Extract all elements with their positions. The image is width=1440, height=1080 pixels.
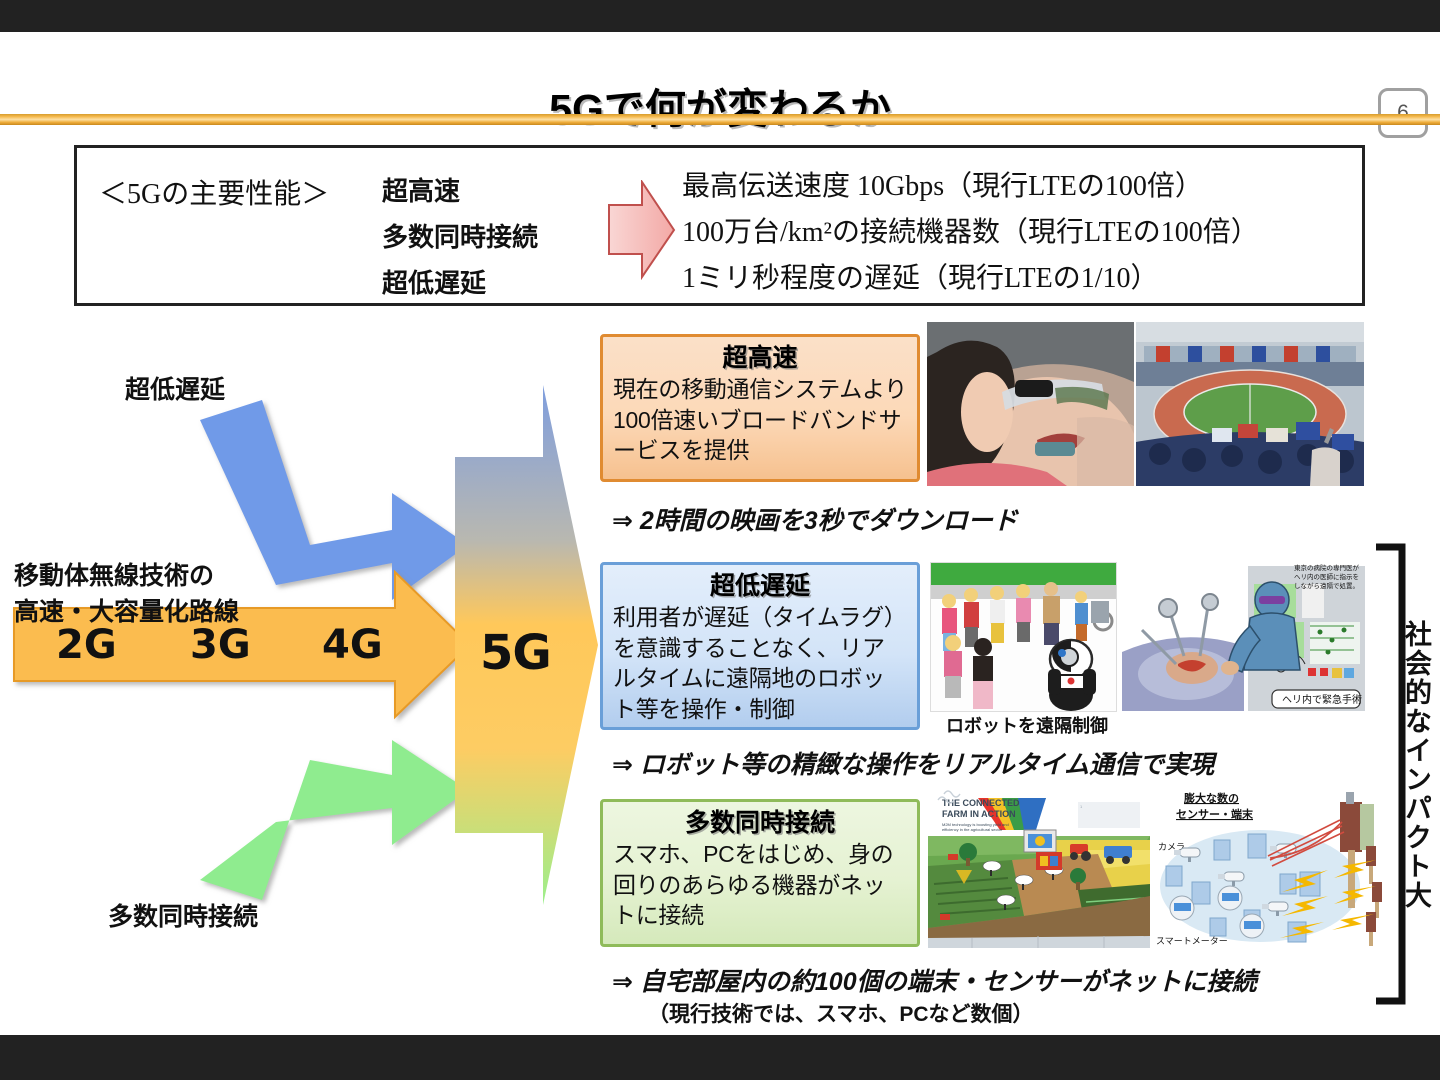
diagram-massive-sensors: 膨大な数の センサー・端末 カメラ スマートメーター: [1152, 786, 1384, 952]
card-body: 利用者が遅延（タイムラグ）を意識することなく、リアルタイムに遠隔地のロボット等を…: [613, 602, 907, 724]
svg-text:スマートメーター: スマートメーター: [1156, 936, 1228, 946]
key-performance-keys: 超高速 多数同時接続 超低遅延: [382, 168, 538, 306]
caption-remote-robot-control: ロボットを遠隔制御: [946, 712, 1108, 738]
result-ultra-high-speed: ⇒ 2時間の映画を3秒でダウンロード: [612, 501, 1018, 537]
svg-text:FARM IN ACTION: FARM IN ACTION: [942, 809, 1016, 819]
generation-2g: 2G: [56, 622, 117, 668]
illustration-robot-in-crowd: [930, 562, 1117, 712]
page-title: 5Gで何が変わるか: [0, 75, 1440, 135]
page-number-badge: 6: [1378, 88, 1428, 138]
card-heading: 超高速: [613, 343, 907, 374]
letterbox-top: [0, 0, 1440, 32]
card-body: スマホ、PCをはじめ、身の回りのあらゆる機器がネットに接続: [613, 839, 907, 931]
illustration-remote-surgery: 東京の病院の専門医が ヘリ内の医師に指示を しながら遠隔で処置。 ヘリ内で緊急手…: [1122, 556, 1365, 711]
five-g-hub-label: 5G: [480, 625, 551, 681]
card-body: 現在の移動通信システムより100倍速いブロードバンドサービスを提供: [613, 374, 907, 466]
svg-text:膨大な数の: 膨大な数の: [1183, 791, 1239, 805]
value-item-1: 100万台/km²の接続機器数（現行LTEの100倍）: [682, 210, 1259, 256]
illustration-connected-farm: THE CONNECTED FARM IN ACTION M2M technol…: [928, 790, 1150, 950]
green-many-connections-arrow: [200, 740, 468, 900]
blue-low-latency-arrow: [200, 400, 468, 600]
value-item-0: 最高伝送速度 10Gbps（現行LTEの100倍）: [682, 164, 1259, 210]
svg-text:efficiency in the agricultural: efficiency in the agricultural sector: [942, 827, 1003, 832]
card-heading: 多数同時接続: [613, 808, 907, 839]
card-ultra-high-speed: 超高速 現在の移動通信システムより100倍速いブロードバンドサービスを提供: [600, 334, 920, 482]
svg-text:東京の病院の専門医が: 東京の病院の専門医が: [1294, 563, 1360, 572]
svg-text:THE CONNECTED: THE CONNECTED: [942, 798, 1020, 808]
right-arrow-pink-icon: [604, 180, 676, 280]
card-massive-connections: 多数同時接続 スマホ、PCをはじめ、身の回りのあらゆる機器がネットに接続: [600, 799, 920, 947]
result-massive-connections: ⇒ 自宅部屋内の約100個の端末・センサーがネットに接続: [612, 962, 1257, 998]
label-many-connections: 多数同時接続: [108, 897, 258, 933]
value-item-2: 1ミリ秒程度の遅延（現行LTEの1/10）: [682, 256, 1259, 302]
social-impact-label: 社会的なインパクト大: [1402, 620, 1436, 910]
svg-text:センサー・端末: センサー・端末: [1176, 807, 1254, 821]
key-item-0: 超高速: [382, 168, 538, 214]
photo-smart-glasses: [927, 322, 1134, 486]
slide: 5Gで何が変わるか 6 ＜5Gの主要性能＞ 超高速 多数同時接続 超低遅延 最高…: [0, 0, 1440, 1080]
label-route-line1: 移動体無線技術の: [14, 558, 239, 594]
label-low-latency: 超低遅延: [125, 370, 225, 406]
card-ultra-low-latency: 超低遅延 利用者が遅延（タイムラグ）を意識することなく、リアルタイムに遠隔地のロ…: [600, 562, 920, 730]
key-performance-box: ＜5Gの主要性能＞ 超高速 多数同時接続 超低遅延 最高伝送速度 10Gbps（…: [74, 145, 1365, 306]
generation-4g: 4G: [322, 622, 383, 668]
result-massive-connections-sub: （現行技術では、スマホ、PCなど数個）: [648, 998, 1034, 1028]
key-performance-values: 最高伝送速度 10Gbps（現行LTEの100倍） 100万台/km²の接続機器…: [682, 164, 1259, 302]
robot-figure: [1048, 640, 1096, 711]
generation-3g: 3G: [190, 622, 251, 668]
key-performance-label: ＜5Gの主要性能＞: [99, 172, 329, 212]
key-item-1: 多数同時接続: [382, 214, 538, 260]
card-heading: 超低遅延: [613, 571, 907, 602]
header-divider: [0, 114, 1440, 125]
slide-header: 5Gで何が変わるか 6: [0, 32, 1440, 114]
svg-text:ヘリ内の医師に指示を: ヘリ内の医師に指示を: [1294, 572, 1359, 581]
svg-text:しながら遠隔で処置。: しながら遠隔で処置。: [1294, 581, 1359, 590]
label-route: 移動体無線技術の 高速・大容量化路線: [14, 558, 239, 630]
letterbox-bottom: [0, 1035, 1440, 1080]
result-ultra-low-latency: ⇒ ロボット等の精緻な操作をリアルタイム通信で実現: [612, 745, 1214, 781]
key-item-2: 超低遅延: [382, 260, 538, 306]
svg-text:ヘリ内で緊急手術: ヘリ内で緊急手術: [1282, 693, 1362, 706]
photo-stadium: [1136, 322, 1364, 486]
